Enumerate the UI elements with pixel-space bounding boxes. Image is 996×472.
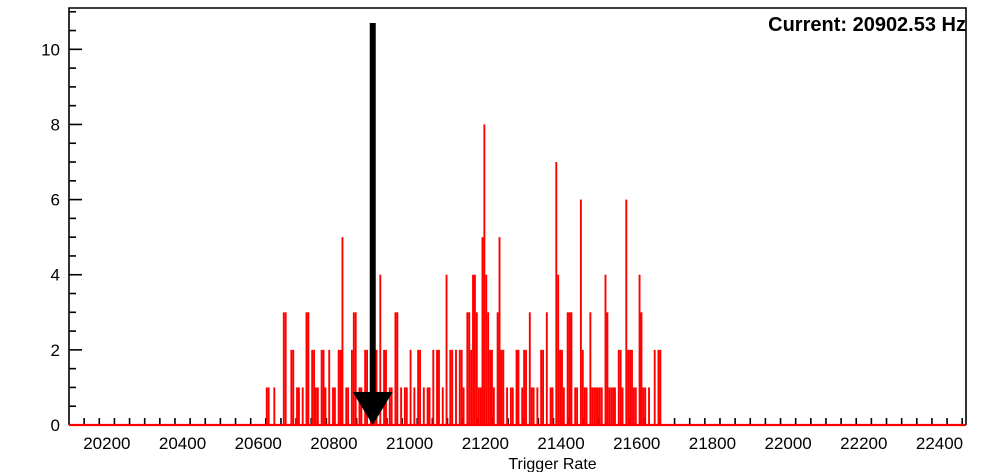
- svg-text:21800: 21800: [689, 434, 736, 453]
- svg-text:6: 6: [51, 191, 60, 210]
- svg-text:4: 4: [51, 266, 60, 285]
- trigger-rate-histogram[interactable]: 0246810 20200204002060020800210002120021…: [0, 0, 996, 472]
- svg-text:20200: 20200: [83, 434, 130, 453]
- svg-text:0: 0: [51, 416, 60, 435]
- y-axis-tick-labels: 0246810: [41, 40, 60, 435]
- histogram-bars: [266, 124, 662, 425]
- x-axis-title: Trigger Rate: [508, 456, 596, 472]
- svg-text:20400: 20400: [159, 434, 206, 453]
- svg-text:22000: 22000: [764, 434, 811, 453]
- svg-text:20800: 20800: [310, 434, 357, 453]
- svg-text:20600: 20600: [235, 434, 282, 453]
- svg-text:21000: 21000: [386, 434, 433, 453]
- y-axis-ticks: [69, 12, 82, 425]
- x-axis-tick-labels: 2020020400206002080021000212002140021600…: [83, 434, 963, 453]
- svg-text:22400: 22400: [916, 434, 963, 453]
- svg-text:21200: 21200: [462, 434, 509, 453]
- svg-text:21600: 21600: [613, 434, 660, 453]
- histogram-canvas: 0246810 20200204002060020800210002120021…: [0, 0, 996, 472]
- current-rate-readout: Current: 20902.53 Hz: [768, 14, 966, 37]
- svg-text:21400: 21400: [537, 434, 584, 453]
- svg-text:8: 8: [51, 115, 60, 134]
- svg-text:22200: 22200: [840, 434, 887, 453]
- svg-text:2: 2: [51, 341, 60, 360]
- svg-text:Trigger Rate: Trigger Rate: [508, 456, 596, 472]
- svg-text:10: 10: [41, 40, 60, 59]
